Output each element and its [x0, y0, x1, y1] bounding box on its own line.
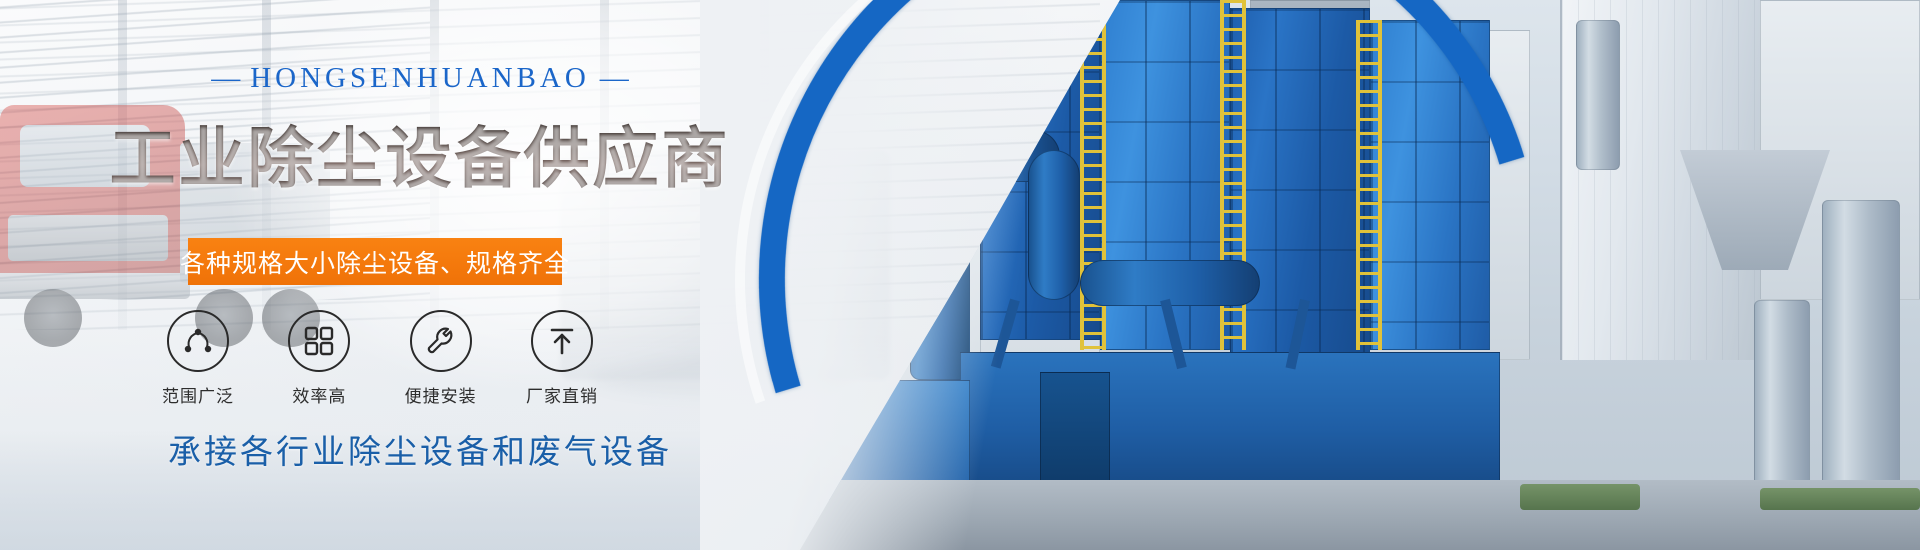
subtitle-orange-bar: 各种规格大小除尘设备、规格齐全 [188, 238, 562, 285]
wrench-tool-icon [410, 310, 472, 372]
feature-item-factory-direct[interactable]: 厂家直销 [514, 310, 610, 407]
storage-cylinder [1822, 200, 1900, 500]
page-title: 工业除尘设备供应商 [0, 105, 840, 201]
feature-label: 便捷安装 [393, 382, 489, 407]
tagline-text: 承接各行业除尘设备和废气设备 [0, 425, 840, 473]
shrub [1520, 484, 1640, 510]
banner-content: —HONGSENHUANBAO— 工业除尘设备供应商 各种规格大小除尘设备、规格… [0, 0, 840, 550]
eyebrow-dash-left: — [201, 62, 250, 94]
feature-item-installation[interactable]: 便捷安装 [393, 310, 489, 407]
brand-eyebrow: —HONGSENHUANBAO— [0, 62, 840, 95]
subtitle-text: 各种规格大小除尘设备、规格齐全 [180, 244, 570, 280]
feature-list: 范围广泛 效率高 [150, 310, 610, 407]
storage-cylinder [1754, 300, 1810, 500]
eyebrow-text: HONGSENHUANBAO [250, 62, 590, 94]
stack-cylinder [1576, 20, 1620, 170]
share-network-icon [167, 310, 229, 372]
feature-label: 效率高 [271, 382, 367, 407]
feature-item-efficiency[interactable]: 效率高 [271, 310, 367, 407]
grid-squares-icon [288, 310, 350, 372]
feature-label: 厂家直销 [514, 382, 610, 407]
feature-item-range[interactable]: 范围广泛 [150, 310, 246, 407]
hero-banner: —HONGSENHUANBAO— 工业除尘设备供应商 各种规格大小除尘设备、规格… [0, 0, 1920, 550]
arrow-up-bar-icon [531, 310, 593, 372]
eyebrow-dash-right: — [590, 62, 639, 94]
feature-label: 范围广泛 [150, 382, 246, 407]
shrub [1760, 488, 1920, 510]
